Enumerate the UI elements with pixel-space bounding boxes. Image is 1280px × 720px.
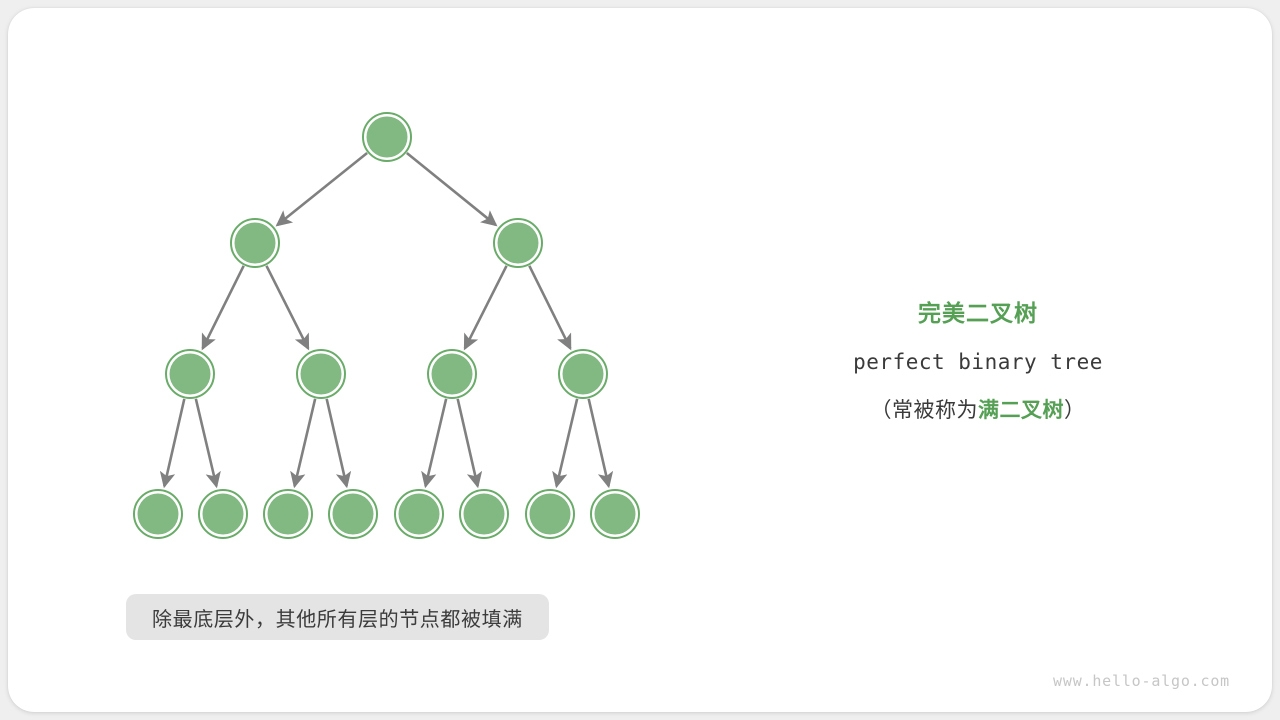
legend-alt-name: （常被称为满二叉树）	[808, 394, 1148, 424]
tree-edge	[164, 399, 184, 486]
tree-edge	[407, 153, 496, 225]
tree-node	[231, 219, 279, 267]
tree-node	[297, 350, 345, 398]
tree-edge	[557, 399, 578, 486]
tree-node	[134, 490, 182, 538]
tree-edge	[327, 399, 347, 486]
tree-node	[363, 113, 411, 161]
node-fill	[235, 223, 276, 264]
tree-edge	[589, 399, 609, 486]
footer-watermark: www.hello-algo.com	[1053, 672, 1230, 690]
node-fill	[563, 354, 604, 395]
tree-edge	[196, 399, 217, 486]
screenshot-canvas: 除最底层外，其他所有层的节点都被填满 完美二叉树 perfect binary …	[0, 0, 1280, 720]
node-fill	[464, 494, 505, 535]
node-fill	[268, 494, 309, 535]
node-fill	[301, 354, 342, 395]
tree-edge	[529, 266, 570, 349]
tree-node	[460, 490, 508, 538]
tree-node	[428, 350, 476, 398]
node-fill	[399, 494, 440, 535]
tree-edge	[465, 266, 507, 349]
tree-node	[329, 490, 377, 538]
tree-edge	[203, 266, 244, 349]
tree-node	[166, 350, 214, 398]
caption-text: 除最底层外，其他所有层的节点都被填满	[152, 603, 523, 632]
caption-pill: 除最底层外，其他所有层的节点都被填满	[126, 594, 549, 640]
binary-tree-diagram	[8, 8, 768, 588]
tree-node	[494, 219, 542, 267]
tree-edge	[277, 153, 367, 225]
node-fill	[367, 117, 408, 158]
tree-node	[264, 490, 312, 538]
illustration-card: 除最底层外，其他所有层的节点都被填满 完美二叉树 perfect binary …	[8, 8, 1272, 712]
tree-node	[395, 490, 443, 538]
node-fill	[530, 494, 571, 535]
node-fill	[170, 354, 211, 395]
legend-alt-highlight: 满二叉树	[978, 399, 1064, 422]
tree-edges	[164, 153, 608, 486]
tree-node	[591, 490, 639, 538]
tree-edge	[458, 399, 478, 486]
legend-alt-prefix: （常被称为	[871, 399, 979, 422]
legend-latin-name: perfect binary tree	[808, 350, 1148, 374]
node-fill	[595, 494, 636, 535]
tree-node	[559, 350, 607, 398]
tree-nodes	[134, 113, 639, 538]
legend-block: 完美二叉树 perfect binary tree （常被称为满二叉树）	[808, 300, 1148, 424]
node-fill	[138, 494, 179, 535]
tree-edge	[266, 266, 308, 349]
tree-edge	[295, 399, 316, 486]
node-fill	[333, 494, 374, 535]
legend-title: 完美二叉树	[808, 300, 1148, 328]
tree-node	[526, 490, 574, 538]
node-fill	[203, 494, 244, 535]
tree-edge	[426, 399, 447, 486]
node-fill	[498, 223, 539, 264]
legend-alt-suffix: ）	[1064, 399, 1086, 422]
node-fill	[432, 354, 473, 395]
tree-node	[199, 490, 247, 538]
